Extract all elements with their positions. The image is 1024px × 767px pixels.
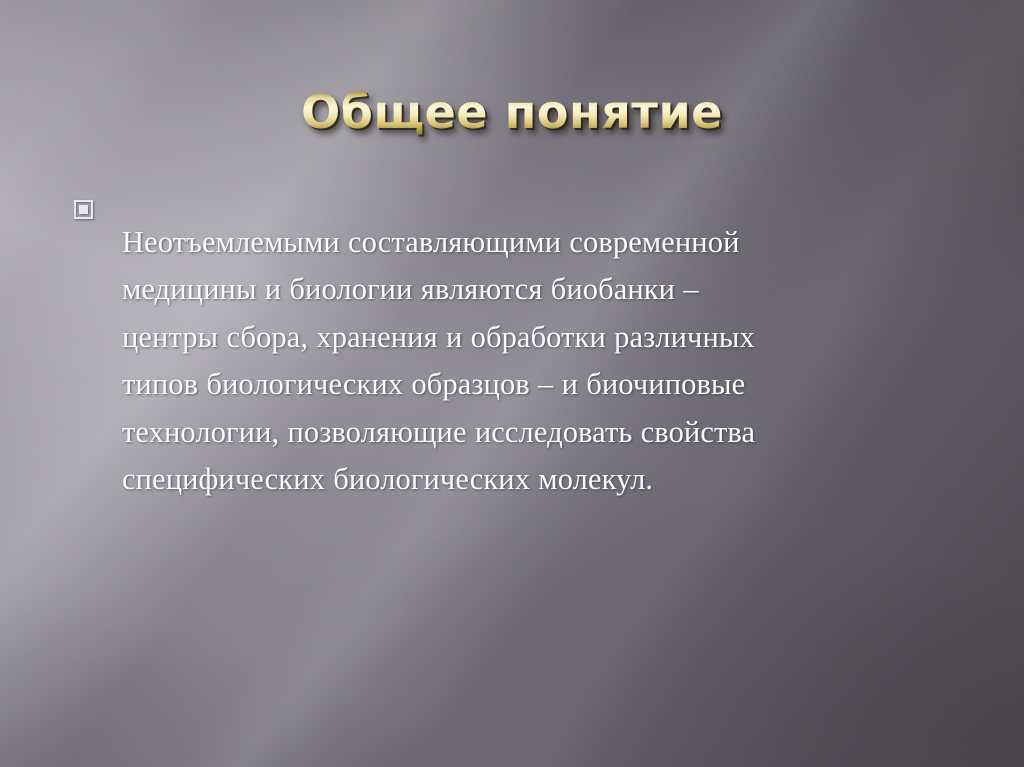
- slide-title-area: Общее понятие: [0, 56, 1024, 169]
- bullet-text-line: центры сбора, хранения и обработки разли…: [122, 314, 964, 362]
- bullet-text-line: медицины и биологии являются биобанки –: [122, 266, 964, 314]
- square-in-square-bullet-icon: [74, 200, 93, 219]
- bullet-text-line: типов биологических образцов – и биочипо…: [122, 361, 964, 409]
- presentation-slide: Общее понятие Неотъемлемыми составляющим…: [0, 0, 1024, 767]
- bullet-text-line: Неотъемлемыми составляющими современной: [122, 219, 964, 267]
- bullet-list-item: Неотъемлемыми составляющими современной …: [74, 188, 964, 534]
- bullet-text-line: специфических биологических молекул.: [122, 456, 964, 504]
- slide-title: Общее понятие: [301, 87, 723, 139]
- slide-body-area: Неотъемлемыми составляющими современной …: [74, 188, 964, 534]
- bullet-text-line: технологии, позволяющие исследовать свой…: [122, 409, 964, 457]
- bullet-item-text: Неотъемлемыми составляющими современной …: [122, 219, 964, 504]
